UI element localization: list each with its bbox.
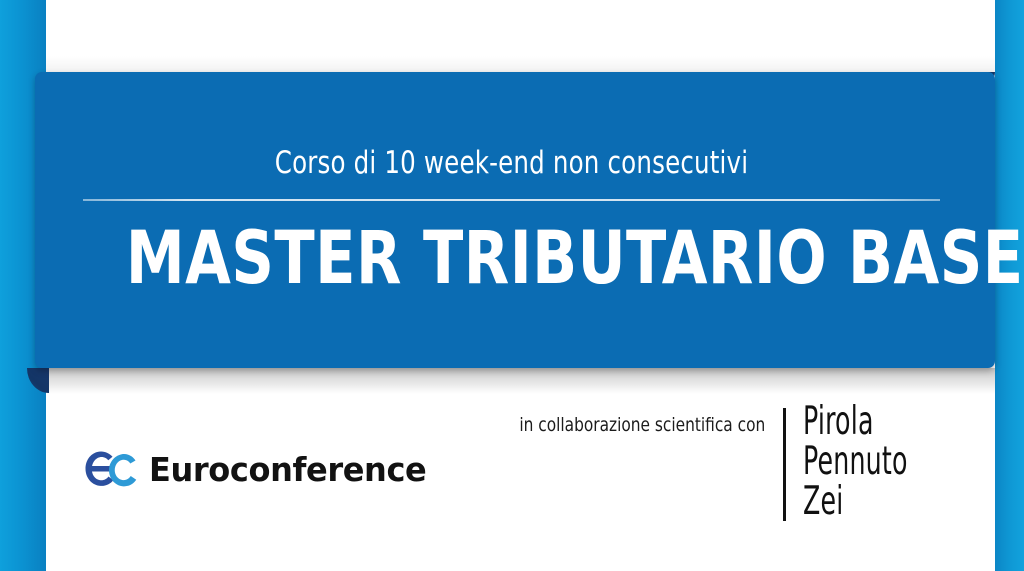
panel-shadow-bottom: [46, 368, 995, 394]
poster-canvas: Corso di 10 week-end non consecutivi MAS…: [0, 0, 1024, 571]
partner-line-3: Zei: [803, 482, 908, 522]
banner-content: Corso di 10 week-end non consecutivi MAS…: [83, 72, 940, 368]
banner-divider-rule: [83, 199, 940, 201]
collaboration-divider: [783, 408, 786, 521]
partner-line-2: Pennuto: [803, 442, 908, 482]
partner-line-1: Pirola: [803, 402, 908, 442]
blue-banner: Corso di 10 week-end non consecutivi MAS…: [35, 72, 995, 368]
euroconference-logo: Euroconference: [84, 448, 435, 490]
course-subtitle: Corso di 10 week-end non consecutivi: [134, 148, 888, 179]
footer-region: Euroconference in collaborazione scienti…: [46, 394, 995, 571]
collaboration-block: in collaborazione scientifica con Pirola…: [492, 400, 948, 521]
pirola-pennuto-zei-logo: Pirola Pennuto Zei: [803, 402, 948, 521]
course-title: MASTER TRIBUTARIO BASE: [126, 222, 897, 295]
euroconference-monogram-icon: [84, 448, 140, 490]
collaboration-label: in collaborazione scientifica con: [520, 416, 766, 435]
euroconference-wordmark: Euroconference: [149, 453, 426, 486]
